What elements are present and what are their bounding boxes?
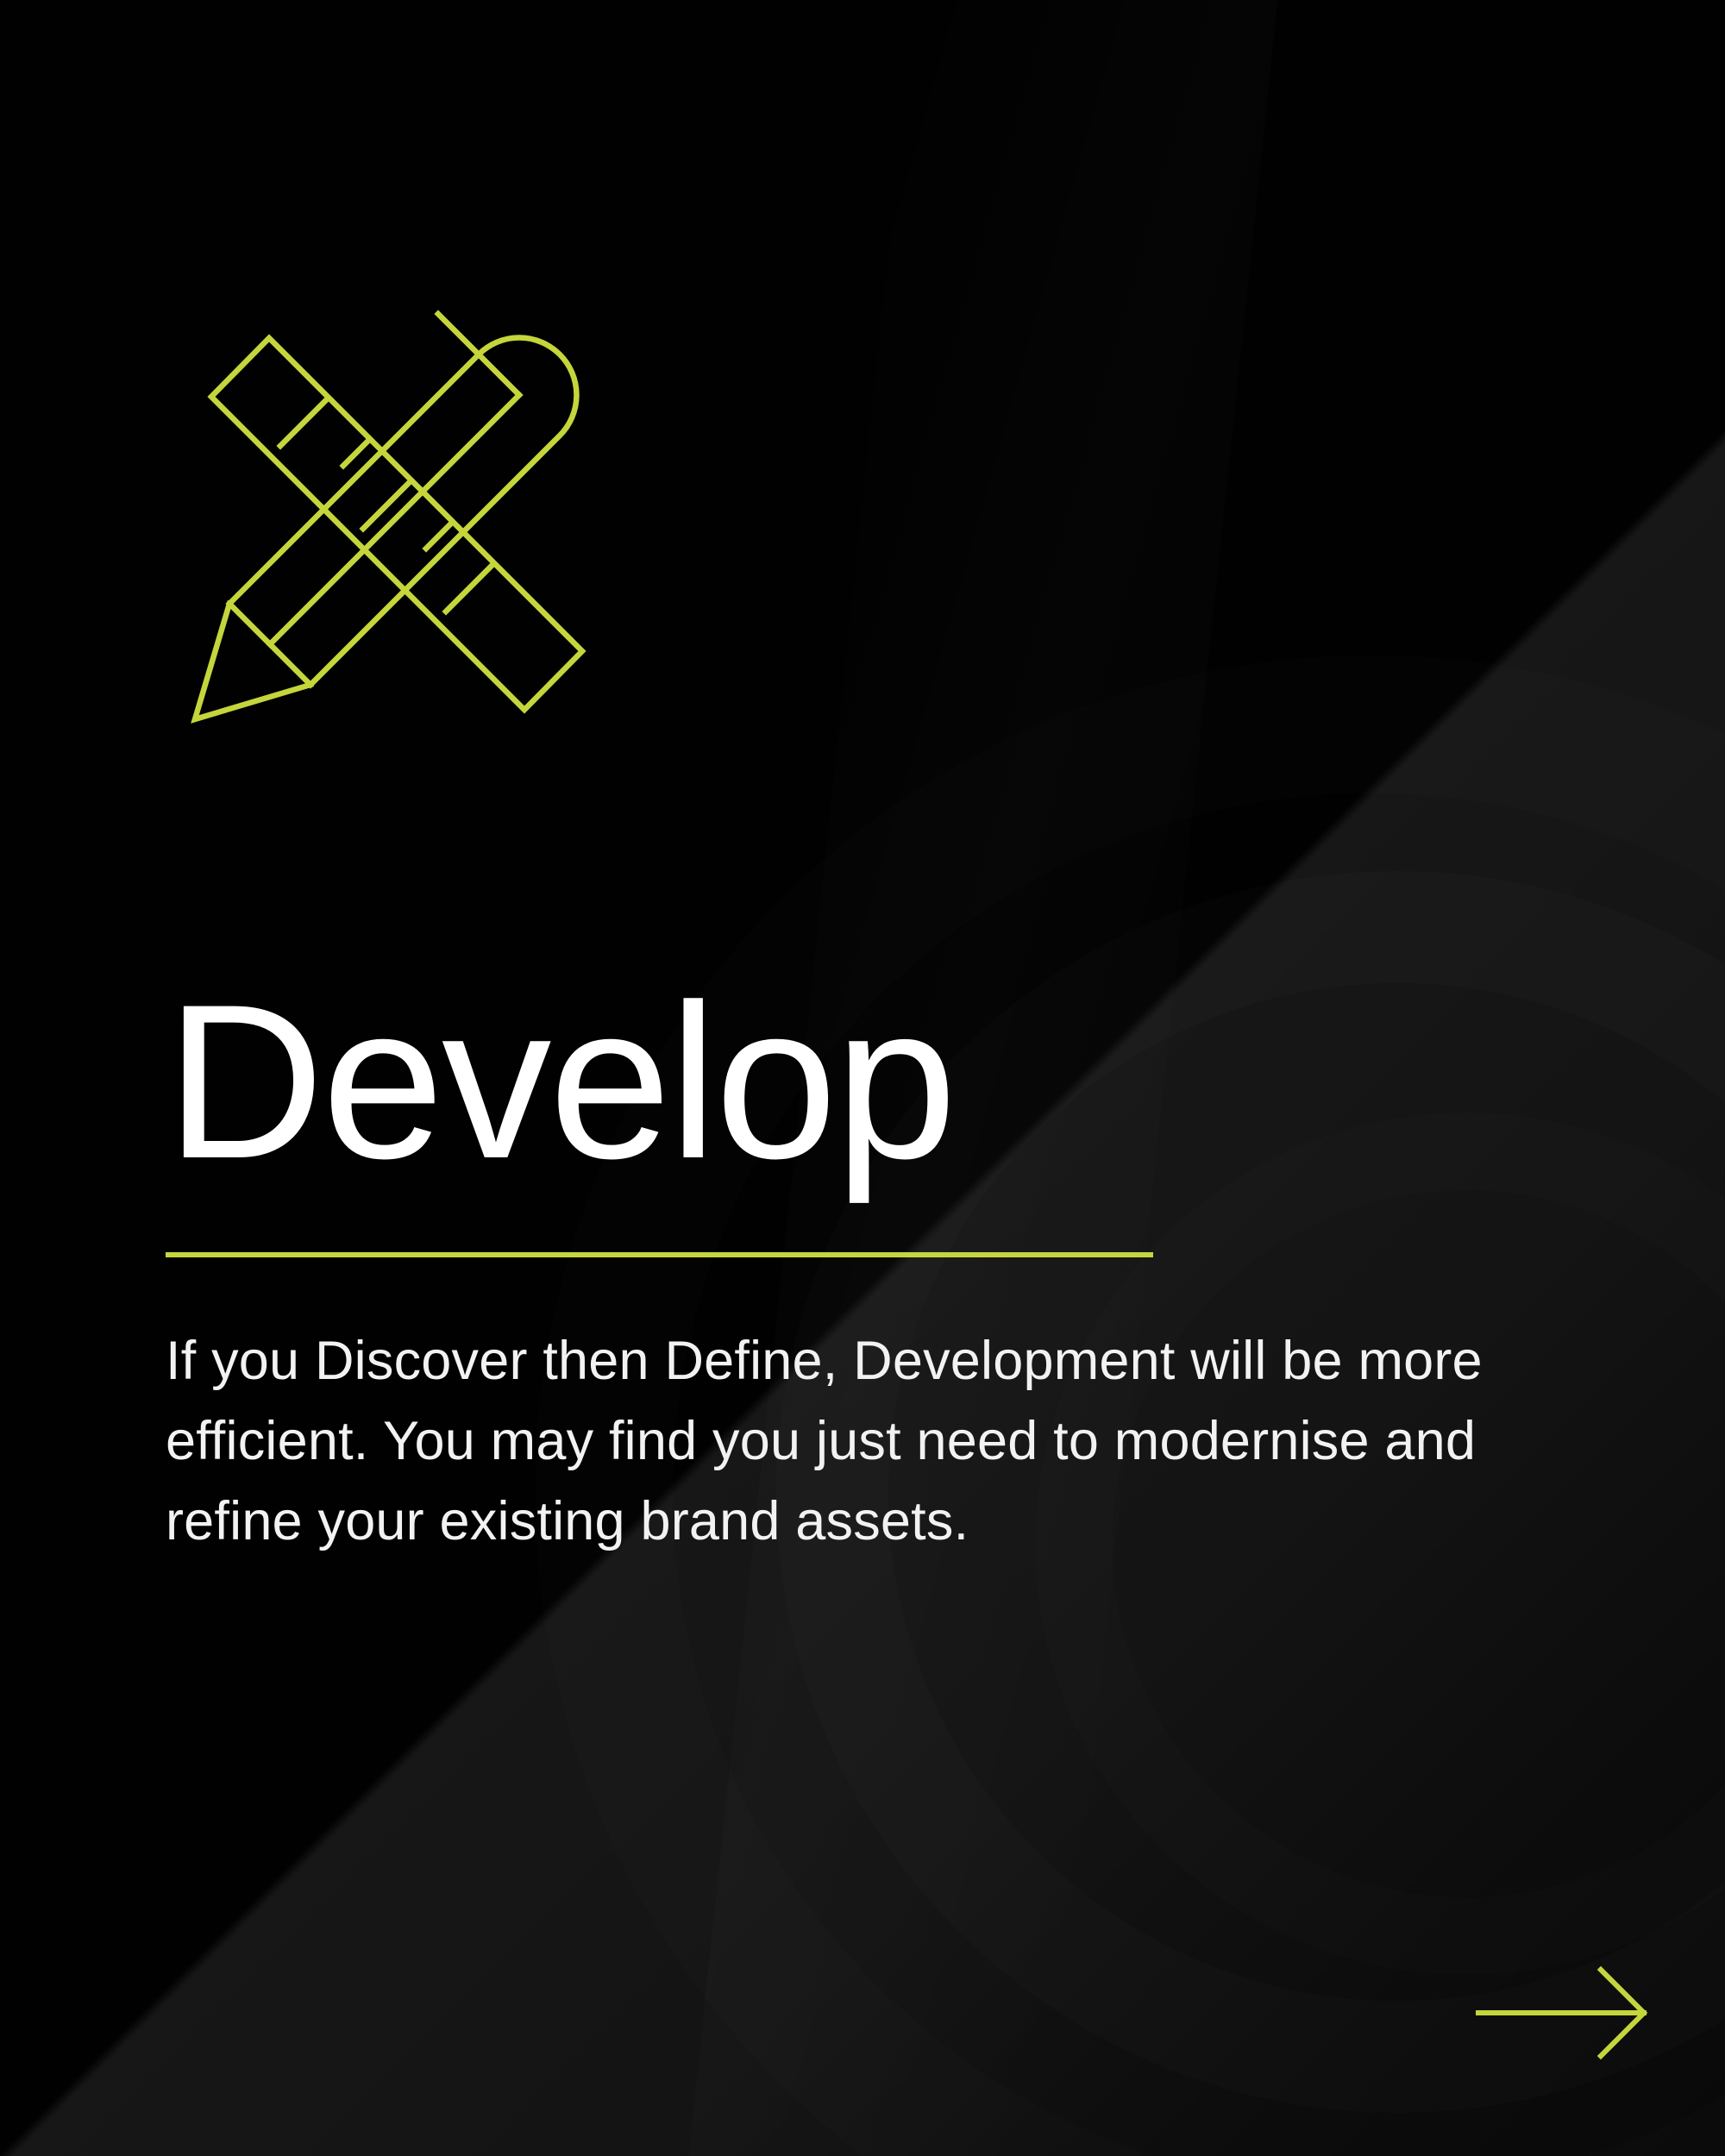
ruler-and-pencil-icon (147, 285, 612, 750)
next-slide-button[interactable] (1466, 1963, 1656, 2063)
pencil-shape (195, 314, 576, 719)
arrow-right-icon (1466, 1963, 1656, 2063)
develop-slide: Develop If you Discover then Define, Dev… (0, 0, 1725, 2156)
headline-accent-rule (166, 1252, 1153, 1257)
ruler-shape (211, 338, 582, 710)
headline-block: Develop (166, 975, 1546, 1190)
body-paragraph: If you Discover then Define, Development… (166, 1321, 1615, 1562)
page-title: Develop (166, 975, 1546, 1190)
